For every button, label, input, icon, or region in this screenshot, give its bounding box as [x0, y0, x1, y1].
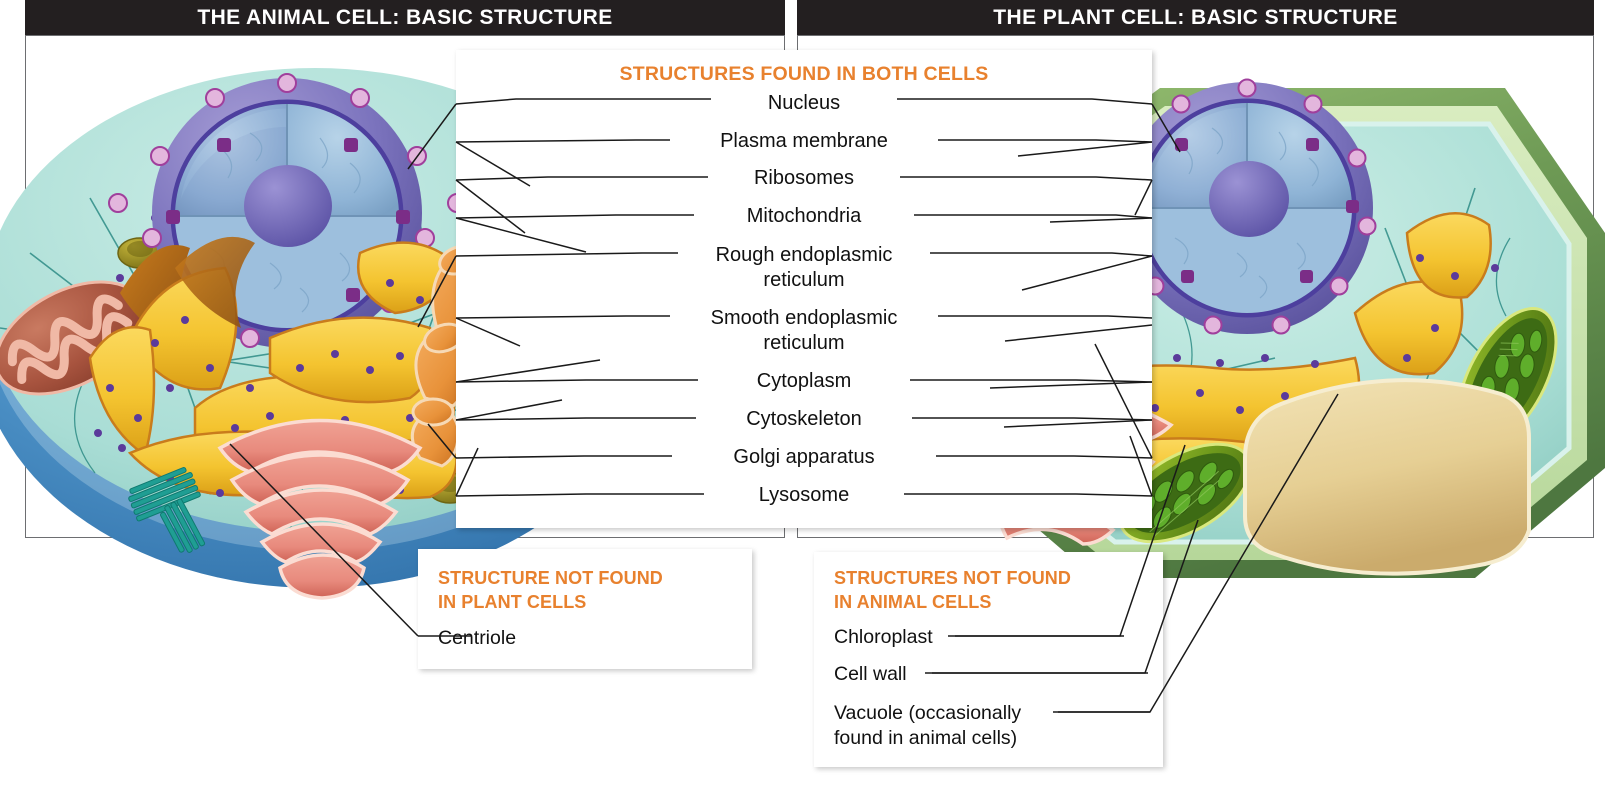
label-vacuole-text: Vacuole (occasionally	[834, 702, 1021, 724]
label-golgi-apparatus-text: Golgi apparatus	[724, 446, 883, 469]
panel-plant-only-title-line2: IN ANIMAL CELLS	[834, 592, 992, 612]
panel-plant-only-title-line1: STRUCTURES NOT FOUND	[834, 568, 1071, 588]
label-centriole: Centriole	[438, 627, 516, 650]
plant-cell-header-text: THE PLANT CELL: BASIC STRUCTURE	[993, 6, 1397, 30]
label-plasma-membrane-text: Plasma membrane	[711, 130, 897, 153]
panel-animal-only-title-line2: IN PLANT CELLS	[438, 592, 586, 612]
structures-not-found-in-animal-cells-panel: STRUCTURES NOT FOUND IN ANIMAL CELLS Chl…	[814, 552, 1163, 767]
label-rough-er-text2: reticulum	[754, 268, 853, 293]
panel-plant-only-title: STRUCTURES NOT FOUND IN ANIMAL CELLS	[834, 566, 1071, 614]
plant-cell-header: THE PLANT CELL: BASIC STRUCTURE	[797, 0, 1594, 35]
label-nucleus-text: Nucleus	[759, 92, 849, 115]
label-centriole-text: Centriole	[438, 627, 516, 649]
panel-animal-only-title: STRUCTURE NOT FOUND IN PLANT CELLS	[438, 566, 663, 614]
label-lysosome-text: Lysosome	[750, 484, 858, 507]
panel-animal-only-title-line1: STRUCTURE NOT FOUND	[438, 568, 663, 588]
label-mitochondria-text: Mitochondria	[738, 205, 871, 228]
structure-not-found-in-plant-cells-panel: STRUCTURE NOT FOUND IN PLANT CELLS Centr…	[418, 549, 752, 669]
vacuole-shape	[1245, 380, 1529, 573]
label-cytoskeleton-text: Cytoskeleton	[737, 408, 871, 431]
label-vacuole: Vacuole (occasionally found in animal ce…	[834, 701, 1021, 751]
label-chloroplast: Chloroplast	[834, 626, 933, 649]
label-vacuole-text2: found in animal cells)	[834, 727, 1017, 749]
label-chloroplast-text: Chloroplast	[834, 626, 933, 648]
label-smooth-er-text: Smooth endoplasmic	[702, 306, 907, 331]
cell-comparison-figure: THE ANIMAL CELL: BASIC STRUCTURE THE PLA…	[0, 0, 1619, 807]
structures-found-in-both-cells-panel: STRUCTURES FOUND IN BOTH CELLS Nucleus P…	[456, 50, 1152, 528]
label-rough-er-text: Rough endoplasmic	[707, 243, 902, 268]
animal-cell-header-text: THE ANIMAL CELL: BASIC STRUCTURE	[197, 6, 612, 30]
label-smooth-er-text2: reticulum	[754, 331, 853, 356]
label-cytoplasm-text: Cytoplasm	[748, 370, 860, 393]
animal-cell-header: THE ANIMAL CELL: BASIC STRUCTURE	[25, 0, 785, 35]
label-ribosomes-text: Ribosomes	[745, 167, 863, 190]
label-cell-wall: Cell wall	[834, 663, 907, 686]
label-cell-wall-text: Cell wall	[834, 663, 907, 685]
